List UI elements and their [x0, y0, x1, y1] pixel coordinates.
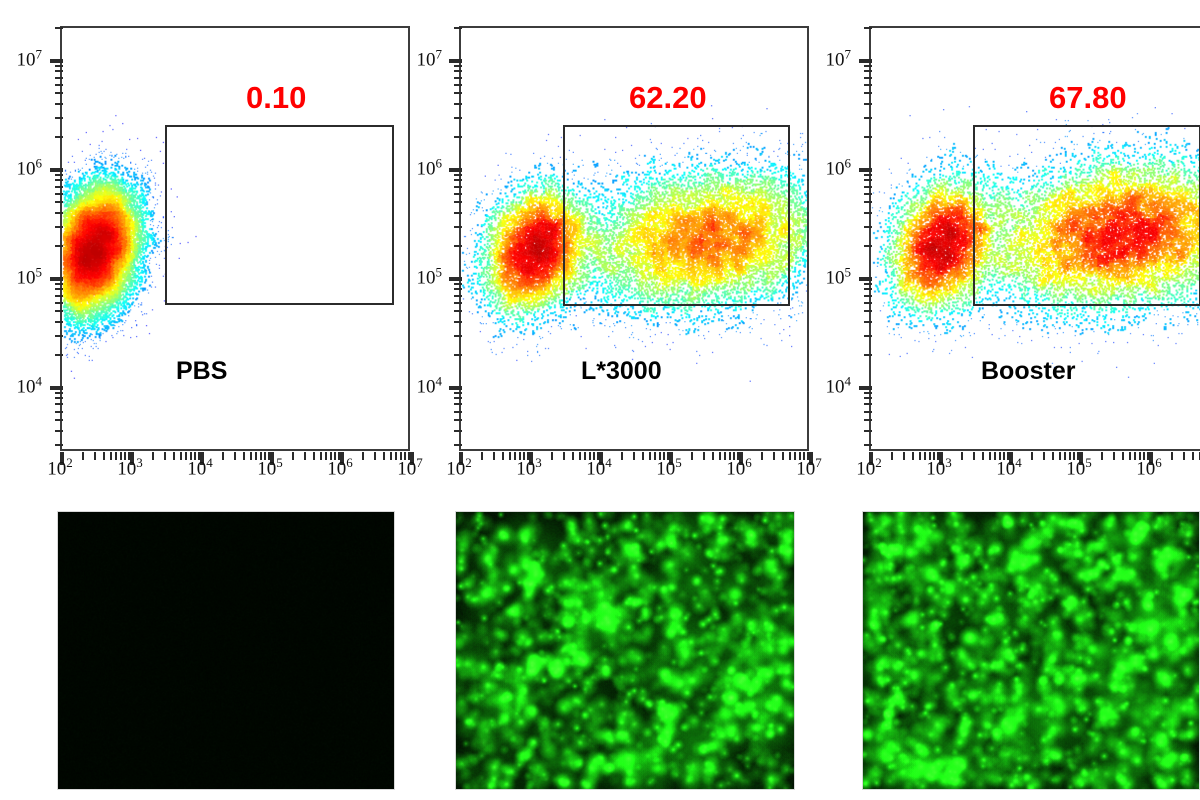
- y-tick-minor: [55, 444, 63, 446]
- y-tick-major: [859, 59, 872, 63]
- y-tick-minor: [864, 136, 872, 138]
- plot-frame-l3000: 62.20 L*3000: [459, 26, 809, 451]
- y-tick-minor: [55, 92, 63, 94]
- x-tick-label: 103: [516, 455, 542, 480]
- y-tick-major: [50, 277, 63, 281]
- y-tick-minor: [454, 70, 462, 72]
- y-tick-minor: [864, 411, 872, 413]
- y-tick-minor: [864, 302, 872, 304]
- gate-percentage-pbs: 0.10: [246, 80, 306, 116]
- flow-cytometry-panel-pbs: 107106105104 0.10 PBS 102103104105106107: [0, 0, 420, 480]
- y-tick-minor: [454, 419, 462, 421]
- y-tick-major: [859, 386, 872, 390]
- y-tick-minor: [55, 179, 63, 181]
- y-tick-minor: [454, 201, 462, 203]
- y-tick-label: 104: [417, 373, 443, 398]
- y-tick-minor: [55, 201, 63, 203]
- y-tick-label: 104: [826, 373, 852, 398]
- gate-rectangle-l3000[interactable]: [563, 125, 790, 306]
- x-tick-label: 106: [726, 455, 752, 480]
- y-tick-minor: [55, 226, 63, 228]
- x-tick-label: 103: [926, 455, 952, 480]
- y-tick-label: 105: [417, 264, 443, 289]
- x-tick-label: 106: [1136, 455, 1162, 480]
- y-tick-minor: [55, 397, 63, 399]
- y-tick-minor: [454, 444, 462, 446]
- x-tick-label: 105: [257, 455, 283, 480]
- y-tick-label: 105: [17, 264, 43, 289]
- y-tick-major: [859, 168, 872, 172]
- x-tick-label: 106: [327, 455, 353, 480]
- y-tick-major: [449, 59, 462, 63]
- x-tick-label: 104: [996, 455, 1022, 480]
- y-tick-minor: [864, 117, 872, 119]
- y-tick-minor: [55, 310, 63, 312]
- x-axis-l3000: 102103104105106107: [459, 455, 809, 483]
- y-tick-minor: [454, 354, 462, 356]
- y-tick-minor: [454, 295, 462, 297]
- y-tick-minor: [55, 419, 63, 421]
- y-tick-minor: [864, 212, 872, 214]
- y-tick-minor: [55, 193, 63, 195]
- y-tick-minor: [454, 310, 462, 312]
- x-tick-label: 102: [446, 455, 472, 480]
- y-tick-minor: [55, 403, 63, 405]
- y-tick-minor: [454, 397, 462, 399]
- y-tick-minor: [454, 321, 462, 323]
- y-tick-label: 106: [17, 155, 43, 180]
- gate-percentage-l3000: 62.20: [629, 80, 707, 116]
- y-tick-minor: [864, 77, 872, 79]
- y-tick-minor: [454, 288, 462, 290]
- y-tick-minor: [55, 245, 63, 247]
- y-tick-minor: [55, 212, 63, 214]
- y-tick-minor: [864, 92, 872, 94]
- y-tick-minor: [454, 92, 462, 94]
- y-tick-minor: [55, 65, 63, 67]
- y-tick-minor: [454, 186, 462, 188]
- y-tick-major: [50, 386, 63, 390]
- y-tick-minor: [454, 27, 462, 29]
- y-tick-minor: [454, 84, 462, 86]
- y-tick-minor: [864, 186, 872, 188]
- y-tick-minor: [454, 283, 462, 285]
- y-tick-minor: [454, 212, 462, 214]
- x-tick-label: 104: [187, 455, 213, 480]
- flow-cytometry-panel-l3000: 107106105104 62.20 L*3000 10210310410510…: [400, 0, 820, 480]
- fluorescence-image-pbs: [57, 511, 395, 790]
- y-tick-minor: [454, 403, 462, 405]
- y-tick-minor: [864, 295, 872, 297]
- gate-rectangle-booster[interactable]: [973, 125, 1200, 306]
- y-tick-minor: [454, 77, 462, 79]
- y-tick-minor: [864, 84, 872, 86]
- x-axis-pbs: 102103104105106107: [60, 455, 410, 483]
- y-tick-minor: [864, 103, 872, 105]
- y-tick-minor: [864, 27, 872, 29]
- sample-label-booster: Booster: [981, 357, 1075, 386]
- y-tick-minor: [864, 444, 872, 446]
- y-tick-major: [449, 277, 462, 281]
- y-tick-major: [449, 386, 462, 390]
- x-tick-label: 102: [47, 455, 73, 480]
- y-tick-minor: [864, 174, 872, 176]
- y-tick-minor: [55, 288, 63, 290]
- y-tick-minor: [454, 226, 462, 228]
- y-tick-label: 107: [417, 46, 443, 71]
- x-axis-booster: 102103104105106107: [869, 455, 1200, 483]
- y-tick-minor: [55, 27, 63, 29]
- y-tick-minor: [864, 245, 872, 247]
- y-tick-label: 105: [826, 264, 852, 289]
- y-tick-minor: [55, 186, 63, 188]
- y-tick-minor: [864, 403, 872, 405]
- y-tick-minor: [55, 103, 63, 105]
- y-tick-major: [50, 59, 63, 63]
- y-tick-minor: [864, 321, 872, 323]
- plot-frame-pbs: 0.10 PBS: [60, 26, 410, 451]
- y-tick-minor: [454, 392, 462, 394]
- gate-percentage-booster: 67.80: [1049, 80, 1127, 116]
- fluorescence-canvas-pbs: [58, 512, 394, 789]
- fluorescence-image-l3000: [455, 511, 795, 790]
- y-tick-minor: [454, 65, 462, 67]
- y-tick-minor: [454, 430, 462, 432]
- y-tick-minor: [55, 84, 63, 86]
- y-tick-minor: [454, 411, 462, 413]
- x-tick-label: 104: [586, 455, 612, 480]
- fluorescence-canvas-booster: [863, 512, 1199, 789]
- y-tick-minor: [55, 70, 63, 72]
- y-tick-minor: [454, 335, 462, 337]
- y-tick-minor: [864, 288, 872, 290]
- sample-label-l3000: L*3000: [581, 357, 662, 386]
- y-tick-minor: [55, 430, 63, 432]
- y-tick-label: 106: [826, 155, 852, 180]
- y-tick-major: [859, 277, 872, 281]
- y-tick-minor: [454, 103, 462, 105]
- fluorescence-image-booster: [862, 511, 1200, 790]
- y-tick-label: 107: [826, 46, 852, 71]
- plot-frame-booster: 67.80 Booster: [869, 26, 1200, 451]
- y-tick-minor: [864, 201, 872, 203]
- y-tick-label: 107: [17, 46, 43, 71]
- figure-root: 107106105104 0.10 PBS 102103104105106107…: [0, 0, 1200, 800]
- y-tick-minor: [55, 77, 63, 79]
- y-tick-minor: [55, 335, 63, 337]
- y-tick-minor: [864, 283, 872, 285]
- y-tick-minor: [454, 302, 462, 304]
- x-tick-label: 105: [656, 455, 682, 480]
- y-tick-minor: [864, 179, 872, 181]
- y-tick-minor: [864, 226, 872, 228]
- y-tick-minor: [55, 392, 63, 394]
- y-tick-label: 104: [17, 373, 43, 398]
- x-tick-label: 102: [856, 455, 882, 480]
- y-tick-minor: [864, 419, 872, 421]
- y-tick-minor: [454, 179, 462, 181]
- y-tick-minor: [864, 310, 872, 312]
- y-tick-minor: [454, 193, 462, 195]
- y-tick-minor: [55, 117, 63, 119]
- y-tick-minor: [454, 136, 462, 138]
- y-tick-minor: [55, 283, 63, 285]
- y-tick-minor: [55, 321, 63, 323]
- y-tick-minor: [864, 65, 872, 67]
- y-tick-minor: [55, 295, 63, 297]
- gate-rectangle-pbs[interactable]: [165, 125, 394, 305]
- y-tick-minor: [864, 392, 872, 394]
- x-tick-label: 105: [1066, 455, 1092, 480]
- y-tick-label: 106: [417, 155, 443, 180]
- x-tick-label: 103: [117, 455, 143, 480]
- y-tick-minor: [454, 245, 462, 247]
- sample-label-pbs: PBS: [176, 357, 227, 386]
- y-tick-minor: [55, 136, 63, 138]
- y-tick-minor: [864, 397, 872, 399]
- y-tick-minor: [864, 193, 872, 195]
- y-tick-major: [50, 168, 63, 172]
- y-tick-minor: [55, 302, 63, 304]
- fluorescence-canvas-l3000: [456, 512, 794, 789]
- y-tick-minor: [864, 430, 872, 432]
- y-tick-minor: [864, 354, 872, 356]
- y-tick-minor: [454, 174, 462, 176]
- y-tick-minor: [864, 70, 872, 72]
- y-tick-minor: [454, 117, 462, 119]
- flow-cytometry-panel-booster: 107106105104 67.80 Booster 1021031041051…: [800, 0, 1200, 480]
- y-tick-minor: [55, 174, 63, 176]
- y-tick-major: [449, 168, 462, 172]
- y-tick-minor: [55, 411, 63, 413]
- y-tick-minor: [55, 354, 63, 356]
- y-tick-minor: [864, 335, 872, 337]
